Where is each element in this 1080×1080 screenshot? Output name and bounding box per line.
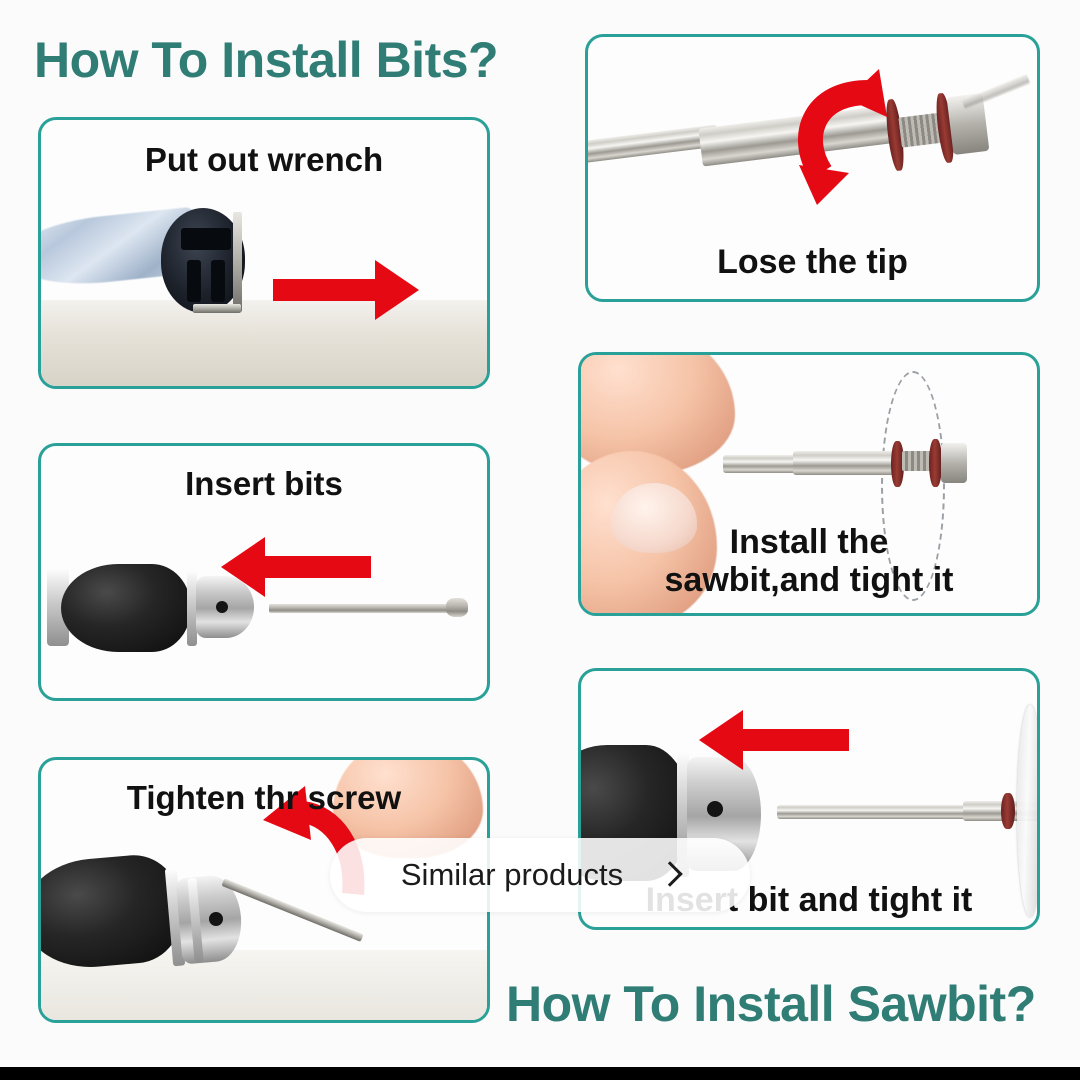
infographic-stage: How To Install Bits? Put out wrench	[0, 0, 1080, 1080]
hex-wrench-short-arm	[193, 304, 241, 313]
hex-wrench-long-arm	[233, 212, 242, 312]
chevron-right-icon	[657, 861, 682, 886]
mandrel-rear-shaft	[723, 455, 799, 473]
screw-head	[941, 443, 967, 483]
mandrel-shaft	[777, 805, 977, 819]
page-title-install-bits: How To Install Bits?	[34, 31, 498, 89]
similar-products-label: Similar products	[401, 857, 623, 893]
arrow-left-icon	[221, 538, 371, 596]
arrow-tail	[261, 556, 371, 578]
panel-caption-lose-tip: Lose the tip	[588, 243, 1037, 281]
bottom-black-bar	[0, 1067, 1080, 1080]
screwdriver-handle	[61, 564, 191, 652]
chuck-set-screw-hole	[209, 912, 223, 926]
background-bit	[962, 74, 1031, 109]
arrow-head	[699, 710, 743, 770]
arrow-right-icon	[273, 260, 419, 320]
table-surface	[41, 300, 487, 386]
arrow-tail	[739, 729, 849, 751]
cap-slot-upper	[181, 228, 231, 250]
arrow-tail	[273, 279, 379, 301]
panel-lose-tip[interactable]: Lose the tip	[585, 34, 1040, 302]
arrow-head	[221, 537, 265, 597]
arrow-head	[375, 260, 419, 320]
panel-put-out-wrench[interactable]: Put out wrench	[38, 117, 490, 389]
mandrel-body	[793, 451, 899, 475]
arrow-left-icon	[699, 711, 849, 769]
similar-products-button[interactable]: Similar products	[330, 838, 750, 912]
drill-bit-shaft	[269, 604, 459, 613]
panel-install-sawbit[interactable]: Install the sawbit,and tight it	[578, 352, 1040, 616]
chuck-set-screw-hole	[707, 801, 723, 817]
washer	[1001, 793, 1015, 829]
page-title-install-sawbit: How To Install Sawbit?	[506, 975, 1036, 1033]
panel-caption-insert-bits: Insert bits	[41, 466, 487, 503]
panel-caption-put-out-wrench: Put out wrench	[41, 142, 487, 179]
curved-arrow-rotate-icon	[783, 73, 913, 213]
cap-slot-lower-left	[187, 260, 201, 302]
chuck-set-screw-hole	[216, 601, 228, 613]
panel-insert-bits[interactable]: Insert bits	[38, 443, 490, 701]
panel-caption-install-sawbit: Install the sawbit,and tight it	[581, 523, 1037, 599]
panel-caption-tighten-screw: Tighten thr screw	[41, 780, 487, 817]
drill-bit-tip	[446, 598, 468, 617]
cap-slot-lower-right	[211, 260, 225, 302]
